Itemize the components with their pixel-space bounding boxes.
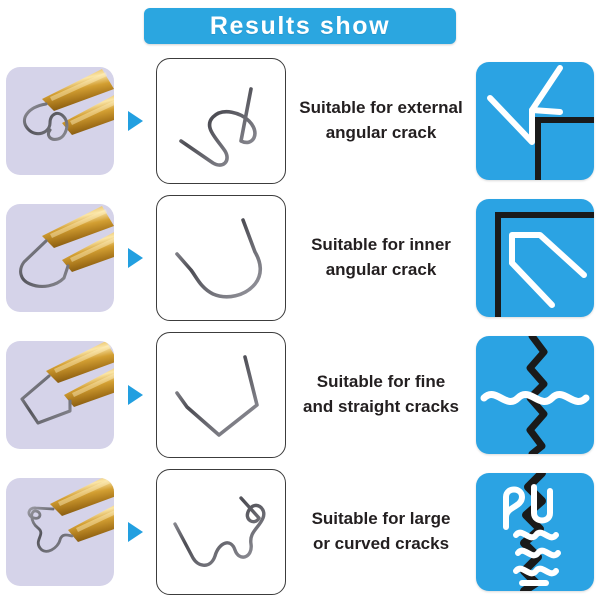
welding-rods-with-u-staple — [6, 341, 114, 449]
staple-wire-path — [177, 220, 260, 297]
header-banner-area: Results show — [0, 0, 600, 52]
arrow-cell — [114, 522, 156, 542]
row-caption: Suitable for large or curved cracks — [286, 507, 476, 556]
staple-wire-path — [181, 89, 255, 165]
row-caption: Suitable for external angular crack — [286, 96, 476, 145]
caption-line-2: or curved cracks — [294, 532, 468, 557]
welding-rods-with-wave-staple — [6, 67, 114, 175]
u-staple-wire — [22, 376, 70, 423]
caption-line-1: Suitable for large — [294, 507, 468, 532]
play-arrow-icon — [128, 522, 143, 542]
caption-line-2: angular crack — [294, 258, 468, 283]
play-arrow-icon — [128, 385, 143, 405]
results-rows: Suitable for external angular crack — [0, 52, 600, 600]
staple-wire-path — [177, 357, 257, 435]
result-row: Suitable for external angular crack — [0, 52, 600, 189]
welding-rods-with-v-staple — [6, 204, 114, 312]
wave-staple-wire — [24, 104, 66, 139]
page-title: Results show — [210, 14, 390, 39]
v-staple — [156, 195, 286, 321]
caption-line-2: and straight cracks — [294, 395, 468, 420]
result-row: Suitable for inner angular crack — [0, 189, 600, 326]
fine-straight-crack — [476, 336, 594, 454]
wall-corner-line — [538, 120, 594, 180]
caption-line-1: Suitable for external — [294, 96, 468, 121]
staple-wire-path — [175, 498, 264, 565]
welding-rods-with-curly-staple — [6, 478, 114, 586]
large-curved-crack — [476, 473, 594, 591]
arrow-cell — [114, 385, 156, 405]
row-caption: Suitable for inner angular crack — [286, 233, 476, 282]
arrow-cell — [114, 111, 156, 131]
row-caption: Suitable for fine and straight cracks — [286, 370, 476, 419]
results-show-banner: Results show — [144, 8, 456, 44]
external-angular-crack — [476, 62, 594, 180]
wave-staple — [156, 58, 286, 184]
caption-line-1: Suitable for inner — [294, 233, 468, 258]
inner-angular-crack — [476, 199, 594, 317]
v-staple-wire — [21, 241, 68, 286]
result-row: Suitable for fine and straight cracks — [0, 326, 600, 463]
curly-staple — [156, 469, 286, 595]
arrow-cell — [114, 248, 156, 268]
u-staple — [156, 332, 286, 458]
crack-angle-line — [512, 235, 584, 275]
caption-line-1: Suitable for fine — [294, 370, 468, 395]
play-arrow-icon — [128, 111, 143, 131]
result-row: Suitable for large or curved cracks — [0, 463, 600, 600]
brass-rod-upper — [50, 478, 114, 516]
crack-diagonal-line — [512, 263, 552, 305]
staple-wave-line — [484, 394, 586, 401]
crack-zigzag-upper — [532, 68, 560, 112]
caption-line-2: angular crack — [294, 121, 468, 146]
play-arrow-icon — [128, 248, 143, 268]
crack-zigzag-lower — [490, 98, 532, 142]
